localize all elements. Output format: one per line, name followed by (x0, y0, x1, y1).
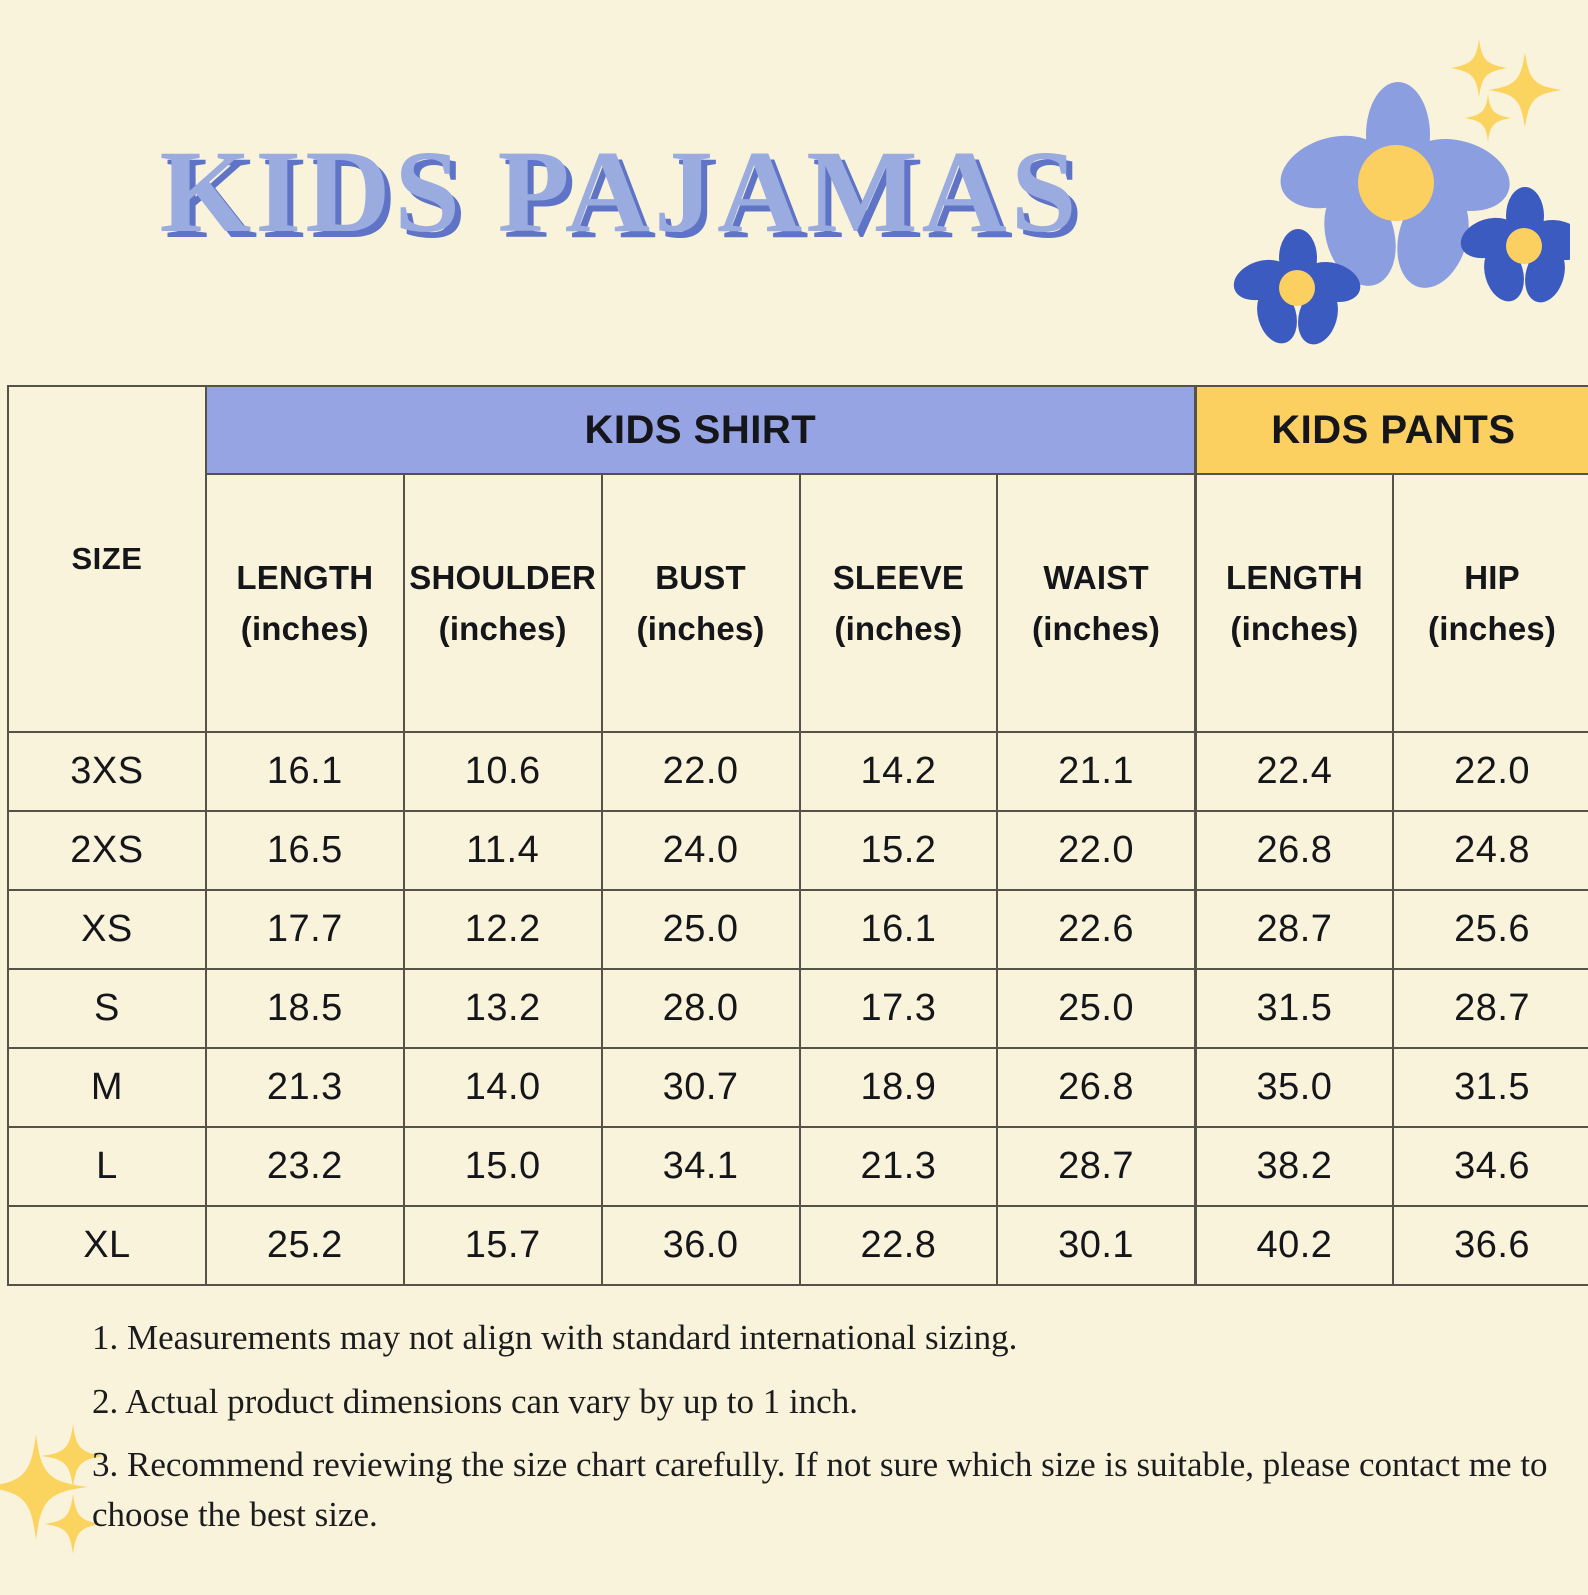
cell-shoulder: 14.0 (404, 1048, 602, 1127)
table-row: 2XS 16.5 11.4 24.0 15.2 22.0 26.8 24.8 (8, 811, 1588, 890)
cell-shoulder: 10.6 (404, 732, 602, 811)
size-column-header: SIZE (8, 386, 206, 732)
sparkle-icon (1451, 39, 1562, 142)
cell-hip: 25.6 (1393, 890, 1588, 969)
cell-hip: 28.7 (1393, 969, 1588, 1048)
table-row: XL 25.2 15.7 36.0 22.8 30.1 40.2 36.6 (8, 1206, 1588, 1285)
cell-sleeve: 14.2 (800, 732, 998, 811)
cell-hip: 24.8 (1393, 811, 1588, 890)
cell-bust: 25.0 (602, 890, 800, 969)
cell-bust: 28.0 (602, 969, 800, 1048)
column-header-unit: (inches) (1197, 603, 1392, 654)
table-header: SIZE KIDS SHIRT KIDS PANTS LENGTH (inche… (8, 386, 1588, 732)
group-header-kids-shirt: KIDS SHIRT (206, 386, 1195, 474)
cell-waist: 25.0 (997, 969, 1195, 1048)
cell-shirt-length: 25.2 (206, 1206, 404, 1285)
table-row: 3XS 16.1 10.6 22.0 14.2 21.1 22.4 22.0 (8, 732, 1588, 811)
column-header-bust: BUST (inches) (602, 474, 800, 732)
cell-sleeve: 22.8 (800, 1206, 998, 1285)
cell-pants-length: 22.4 (1195, 732, 1393, 811)
table-row: L 23.2 15.0 34.1 21.3 28.7 38.2 34.6 (8, 1127, 1588, 1206)
column-header-unit: (inches) (1394, 603, 1588, 654)
cell-pants-length: 31.5 (1195, 969, 1393, 1048)
flower-large-icon (1271, 82, 1519, 296)
cell-waist: 26.8 (997, 1048, 1195, 1127)
cell-bust: 24.0 (602, 811, 800, 890)
table-body: 3XS 16.1 10.6 22.0 14.2 21.1 22.4 22.0 2… (8, 732, 1588, 1285)
footnote-3: 3. Recommend reviewing the size chart ca… (92, 1440, 1552, 1539)
column-header-name: HIP (1464, 559, 1520, 596)
cell-pants-length: 40.2 (1195, 1206, 1393, 1285)
size-label: M (8, 1048, 206, 1127)
column-header-name: SLEEVE (833, 559, 964, 596)
size-label: L (8, 1127, 206, 1206)
column-header-unit: (inches) (998, 603, 1193, 654)
cell-bust: 36.0 (602, 1206, 800, 1285)
cell-shirt-length: 23.2 (206, 1127, 404, 1206)
footnotes: 1. Measurements may not align with stand… (92, 1313, 1552, 1554)
cell-bust: 30.7 (602, 1048, 800, 1127)
size-label: XL (8, 1206, 206, 1285)
size-label: S (8, 969, 206, 1048)
cell-sleeve: 16.1 (800, 890, 998, 969)
column-header-hip: HIP (inches) (1393, 474, 1588, 732)
cell-hip: 34.6 (1393, 1127, 1588, 1206)
flower-cluster (1220, 30, 1570, 350)
cell-shoulder: 11.4 (404, 811, 602, 890)
cell-shoulder: 13.2 (404, 969, 602, 1048)
cell-waist: 21.1 (997, 732, 1195, 811)
flower-small-left-icon (1229, 229, 1366, 349)
cell-bust: 34.1 (602, 1127, 800, 1206)
cell-shoulder: 15.0 (404, 1127, 602, 1206)
footnote-1: 1. Measurements may not align with stand… (92, 1313, 1552, 1363)
table-row: M 21.3 14.0 30.7 18.9 26.8 35.0 31.5 (8, 1048, 1588, 1127)
column-header-name: LENGTH (1226, 559, 1363, 596)
column-header-unit: (inches) (207, 603, 403, 654)
size-label: XS (8, 890, 206, 969)
column-header-name: LENGTH (236, 559, 373, 596)
cell-shirt-length: 16.5 (206, 811, 404, 890)
cell-pants-length: 26.8 (1195, 811, 1393, 890)
cell-sleeve: 17.3 (800, 969, 998, 1048)
cell-shirt-length: 18.5 (206, 969, 404, 1048)
size-label: 3XS (8, 732, 206, 811)
table-row: XS 17.7 12.2 25.0 16.1 22.6 28.7 25.6 (8, 890, 1588, 969)
column-header-sleeve: SLEEVE (inches) (800, 474, 998, 732)
column-header-name: SHOULDER (409, 559, 596, 596)
column-header-unit: (inches) (603, 603, 799, 654)
column-header-shoulder: SHOULDER (inches) (404, 474, 602, 732)
column-header-pants-length: LENGTH (inches) (1195, 474, 1393, 732)
column-header-unit: (inches) (801, 603, 997, 654)
column-header-unit: (inches) (405, 603, 601, 654)
cell-waist: 22.6 (997, 890, 1195, 969)
cell-shoulder: 15.7 (404, 1206, 602, 1285)
group-header-kids-pants: KIDS PANTS (1195, 386, 1588, 474)
column-header-shirt-length: LENGTH (inches) (206, 474, 404, 732)
page-title: KIDS PAJAMAS (0, 128, 1240, 255)
table-row: S 18.5 13.2 28.0 17.3 25.0 31.5 28.7 (8, 969, 1588, 1048)
size-label: 2XS (8, 811, 206, 890)
size-chart-table: SIZE KIDS SHIRT KIDS PANTS LENGTH (inche… (7, 385, 1588, 1286)
cell-waist: 30.1 (997, 1206, 1195, 1285)
cell-shirt-length: 21.3 (206, 1048, 404, 1127)
cell-shoulder: 12.2 (404, 890, 602, 969)
cell-waist: 28.7 (997, 1127, 1195, 1206)
cell-shirt-length: 16.1 (206, 732, 404, 811)
cell-pants-length: 28.7 (1195, 890, 1393, 969)
page-title-container: KIDS PAJAMAS (0, 128, 1240, 255)
cell-waist: 22.0 (997, 811, 1195, 890)
cell-pants-length: 35.0 (1195, 1048, 1393, 1127)
column-header-name: BUST (655, 559, 746, 596)
cell-bust: 22.0 (602, 732, 800, 811)
cell-pants-length: 38.2 (1195, 1127, 1393, 1206)
cell-sleeve: 18.9 (800, 1048, 998, 1127)
column-header-name: WAIST (1043, 559, 1149, 596)
cell-shirt-length: 17.7 (206, 890, 404, 969)
cell-sleeve: 15.2 (800, 811, 998, 890)
cell-hip: 36.6 (1393, 1206, 1588, 1285)
group-band-row: SIZE KIDS SHIRT KIDS PANTS (8, 386, 1588, 474)
footnote-2: 2. Actual product dimensions can vary by… (92, 1377, 1552, 1427)
cell-hip: 22.0 (1393, 732, 1588, 811)
cell-hip: 31.5 (1393, 1048, 1588, 1127)
cell-sleeve: 21.3 (800, 1127, 998, 1206)
sparkle-icon (0, 1424, 105, 1554)
flower-small-right-icon (1456, 187, 1570, 307)
column-header-waist: WAIST (inches) (997, 474, 1195, 732)
column-header-row: LENGTH (inches) SHOULDER (inches) BUST (… (8, 474, 1588, 732)
